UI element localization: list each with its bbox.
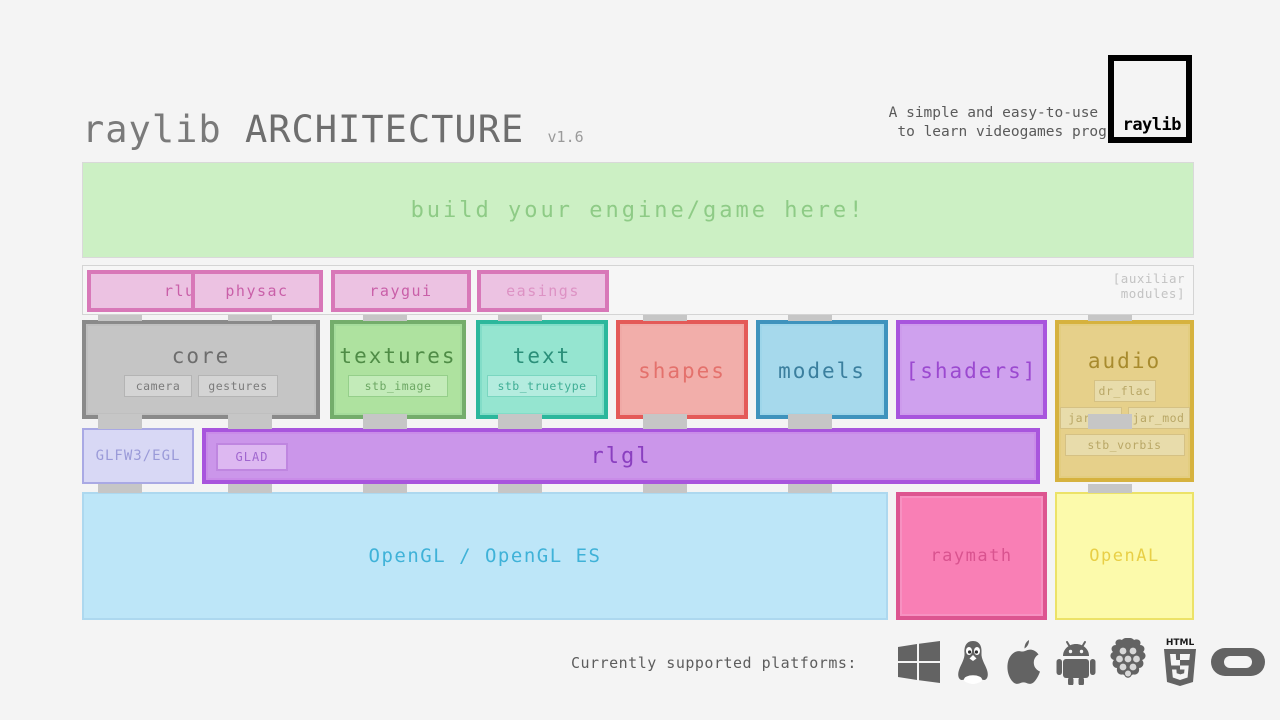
module-rlgl[interactable]: rlgl GLAD bbox=[202, 428, 1040, 484]
version-label: v1.6 bbox=[548, 128, 584, 146]
sub-module-group: stb_image bbox=[348, 375, 448, 397]
row-connector bbox=[98, 315, 142, 321]
row-connector bbox=[1088, 315, 1132, 321]
sub-module-label: stb_vorbis bbox=[1087, 438, 1161, 452]
row-connector bbox=[98, 414, 142, 429]
sub-module-row: stb_truetype bbox=[487, 375, 597, 397]
module-models[interactable]: models bbox=[756, 320, 888, 419]
platform-icon-list: HTML bbox=[896, 636, 1266, 692]
module-label: audio bbox=[1088, 349, 1161, 373]
bottom-module-label: raymath bbox=[930, 546, 1012, 566]
aux-caption-line-2: modules] bbox=[1113, 286, 1185, 301]
module-label: [shaders] bbox=[906, 359, 1038, 383]
aux-module-physac[interactable]: physac bbox=[191, 270, 323, 312]
sub-module-row: cameragestures bbox=[124, 375, 278, 397]
windows-icon bbox=[896, 639, 942, 689]
row-connector bbox=[228, 484, 272, 493]
raspberry-pi-icon bbox=[1106, 638, 1150, 690]
row-connector bbox=[1088, 414, 1132, 429]
module-core[interactable]: corecameragestures bbox=[82, 320, 320, 419]
row-connector bbox=[498, 414, 542, 429]
sub-module-stb_vorbis[interactable]: stb_vorbis bbox=[1065, 434, 1185, 456]
bottom-module-label: OpenGL / OpenGL ES bbox=[369, 545, 602, 567]
raylib-logo-text: raylib bbox=[1123, 115, 1181, 135]
aux-module-label: physac bbox=[225, 282, 288, 300]
bottom-module-label: OpenAL bbox=[1089, 546, 1159, 566]
module-shaders[interactable]: [shaders] bbox=[896, 320, 1047, 419]
sub-module-label: stb_truetype bbox=[497, 379, 586, 393]
module-label: textures bbox=[339, 344, 456, 368]
row-connector bbox=[363, 484, 407, 493]
row-connector bbox=[498, 315, 542, 321]
module-inner: corecameragestures bbox=[86, 324, 316, 415]
module-inner: texturesstb_image bbox=[334, 324, 462, 415]
row-connector bbox=[228, 414, 272, 429]
sub-module-label: jar_mod bbox=[1133, 411, 1185, 425]
sub-module-stb_image[interactable]: stb_image bbox=[348, 375, 448, 397]
svg-text:HTML: HTML bbox=[1166, 638, 1195, 648]
architecture-diagram: raylib ARCHITECTURE v1.6 A simple and ea… bbox=[0, 0, 1280, 720]
page-title: raylib ARCHITECTURE v1.6 bbox=[82, 108, 584, 151]
bottom-module-OpenAL[interactable]: OpenAL bbox=[1055, 492, 1194, 620]
row-connector bbox=[228, 315, 272, 321]
row-connector bbox=[788, 315, 832, 321]
row-connector bbox=[643, 315, 687, 321]
row-connector bbox=[498, 484, 542, 493]
linux-tux-icon bbox=[952, 639, 994, 689]
sub-module-label: camera bbox=[136, 379, 181, 393]
raylib-logo: raylib bbox=[1108, 55, 1192, 143]
module-audio[interactable]: audiodr_flacjar_xmjar_modstb_vorbis bbox=[1055, 320, 1194, 482]
row-connector bbox=[363, 315, 407, 321]
row-connector bbox=[98, 484, 142, 493]
android-icon bbox=[1056, 639, 1096, 689]
build-band-label: build your engine/game here! bbox=[411, 198, 866, 223]
row-connector bbox=[1088, 484, 1132, 493]
aux-module-label: easings bbox=[506, 282, 580, 300]
apple-icon bbox=[1004, 638, 1046, 690]
sub-module-jar_mod[interactable]: jar_mod bbox=[1128, 407, 1190, 429]
platforms-label: Currently supported platforms: bbox=[571, 654, 857, 672]
aux-module-label: raygui bbox=[369, 282, 432, 300]
sub-module-stb_truetype[interactable]: stb_truetype bbox=[487, 375, 597, 397]
module-inner: shapes bbox=[620, 324, 744, 415]
bottom-module-raymath[interactable]: raymath bbox=[896, 492, 1047, 620]
module-inner: audiodr_flacjar_xmjar_modstb_vorbis bbox=[1059, 324, 1190, 478]
auxiliary-modules-caption: [auxiliar modules] bbox=[1113, 271, 1185, 301]
module-glfw3-egl[interactable]: GLFW3/EGL bbox=[82, 428, 194, 484]
row-connector bbox=[788, 414, 832, 429]
module-label: text bbox=[513, 344, 572, 368]
row-connector bbox=[788, 484, 832, 493]
sub-module-dr_flac[interactable]: dr_flac bbox=[1094, 380, 1156, 402]
aux-module-raygui[interactable]: raygui bbox=[331, 270, 471, 312]
module-text[interactable]: textstb_truetype bbox=[476, 320, 608, 419]
build-your-game-band: build your engine/game here! bbox=[82, 162, 1194, 258]
auxiliary-modules-row: [auxiliar modules] rluaphysacrayguieasin… bbox=[82, 265, 1194, 315]
module-label: shapes bbox=[638, 359, 726, 383]
sub-module-label: stb_image bbox=[365, 379, 432, 393]
glad-label: GLAD bbox=[236, 450, 269, 464]
title-light: raylib bbox=[82, 108, 222, 151]
glfw3-egl-label: GLFW3/EGL bbox=[96, 448, 181, 464]
aux-caption-line-1: [auxiliar bbox=[1113, 271, 1185, 286]
module-textures[interactable]: texturesstb_image bbox=[330, 320, 466, 419]
sub-module-gestures[interactable]: gestures bbox=[198, 375, 278, 397]
module-inner: [shaders] bbox=[900, 324, 1043, 415]
sub-module-group: cameragestures bbox=[124, 375, 278, 397]
sub-module-row: dr_flac bbox=[1094, 380, 1156, 402]
sub-module-row: stb_vorbis bbox=[1065, 434, 1185, 456]
bottom-module-OpenGL[interactable]: OpenGL / OpenGL ES bbox=[82, 492, 888, 620]
oculus-icon bbox=[1210, 642, 1266, 686]
title-bold: ARCHITECTURE bbox=[245, 108, 524, 151]
row-connector bbox=[643, 414, 687, 429]
row-connector bbox=[363, 414, 407, 429]
module-label: core bbox=[172, 344, 231, 368]
module-label: models bbox=[778, 359, 866, 383]
aux-module-easings[interactable]: easings bbox=[477, 270, 609, 312]
sub-module-label: dr_flac bbox=[1099, 384, 1151, 398]
row-connector bbox=[643, 484, 687, 493]
sub-module-camera[interactable]: camera bbox=[124, 375, 192, 397]
bottom-module-inner: raymath bbox=[900, 496, 1043, 616]
sub-module-label: gestures bbox=[208, 379, 267, 393]
module-inner: models bbox=[760, 324, 884, 415]
sub-module-group: stb_truetype bbox=[487, 375, 597, 397]
sub-module-glad[interactable]: GLAD bbox=[216, 443, 288, 471]
module-shapes[interactable]: shapes bbox=[616, 320, 748, 419]
html5-icon: HTML bbox=[1160, 636, 1200, 692]
sub-module-row: stb_image bbox=[348, 375, 448, 397]
rlgl-label: rlgl bbox=[591, 444, 652, 469]
module-inner: textstb_truetype bbox=[480, 324, 604, 415]
